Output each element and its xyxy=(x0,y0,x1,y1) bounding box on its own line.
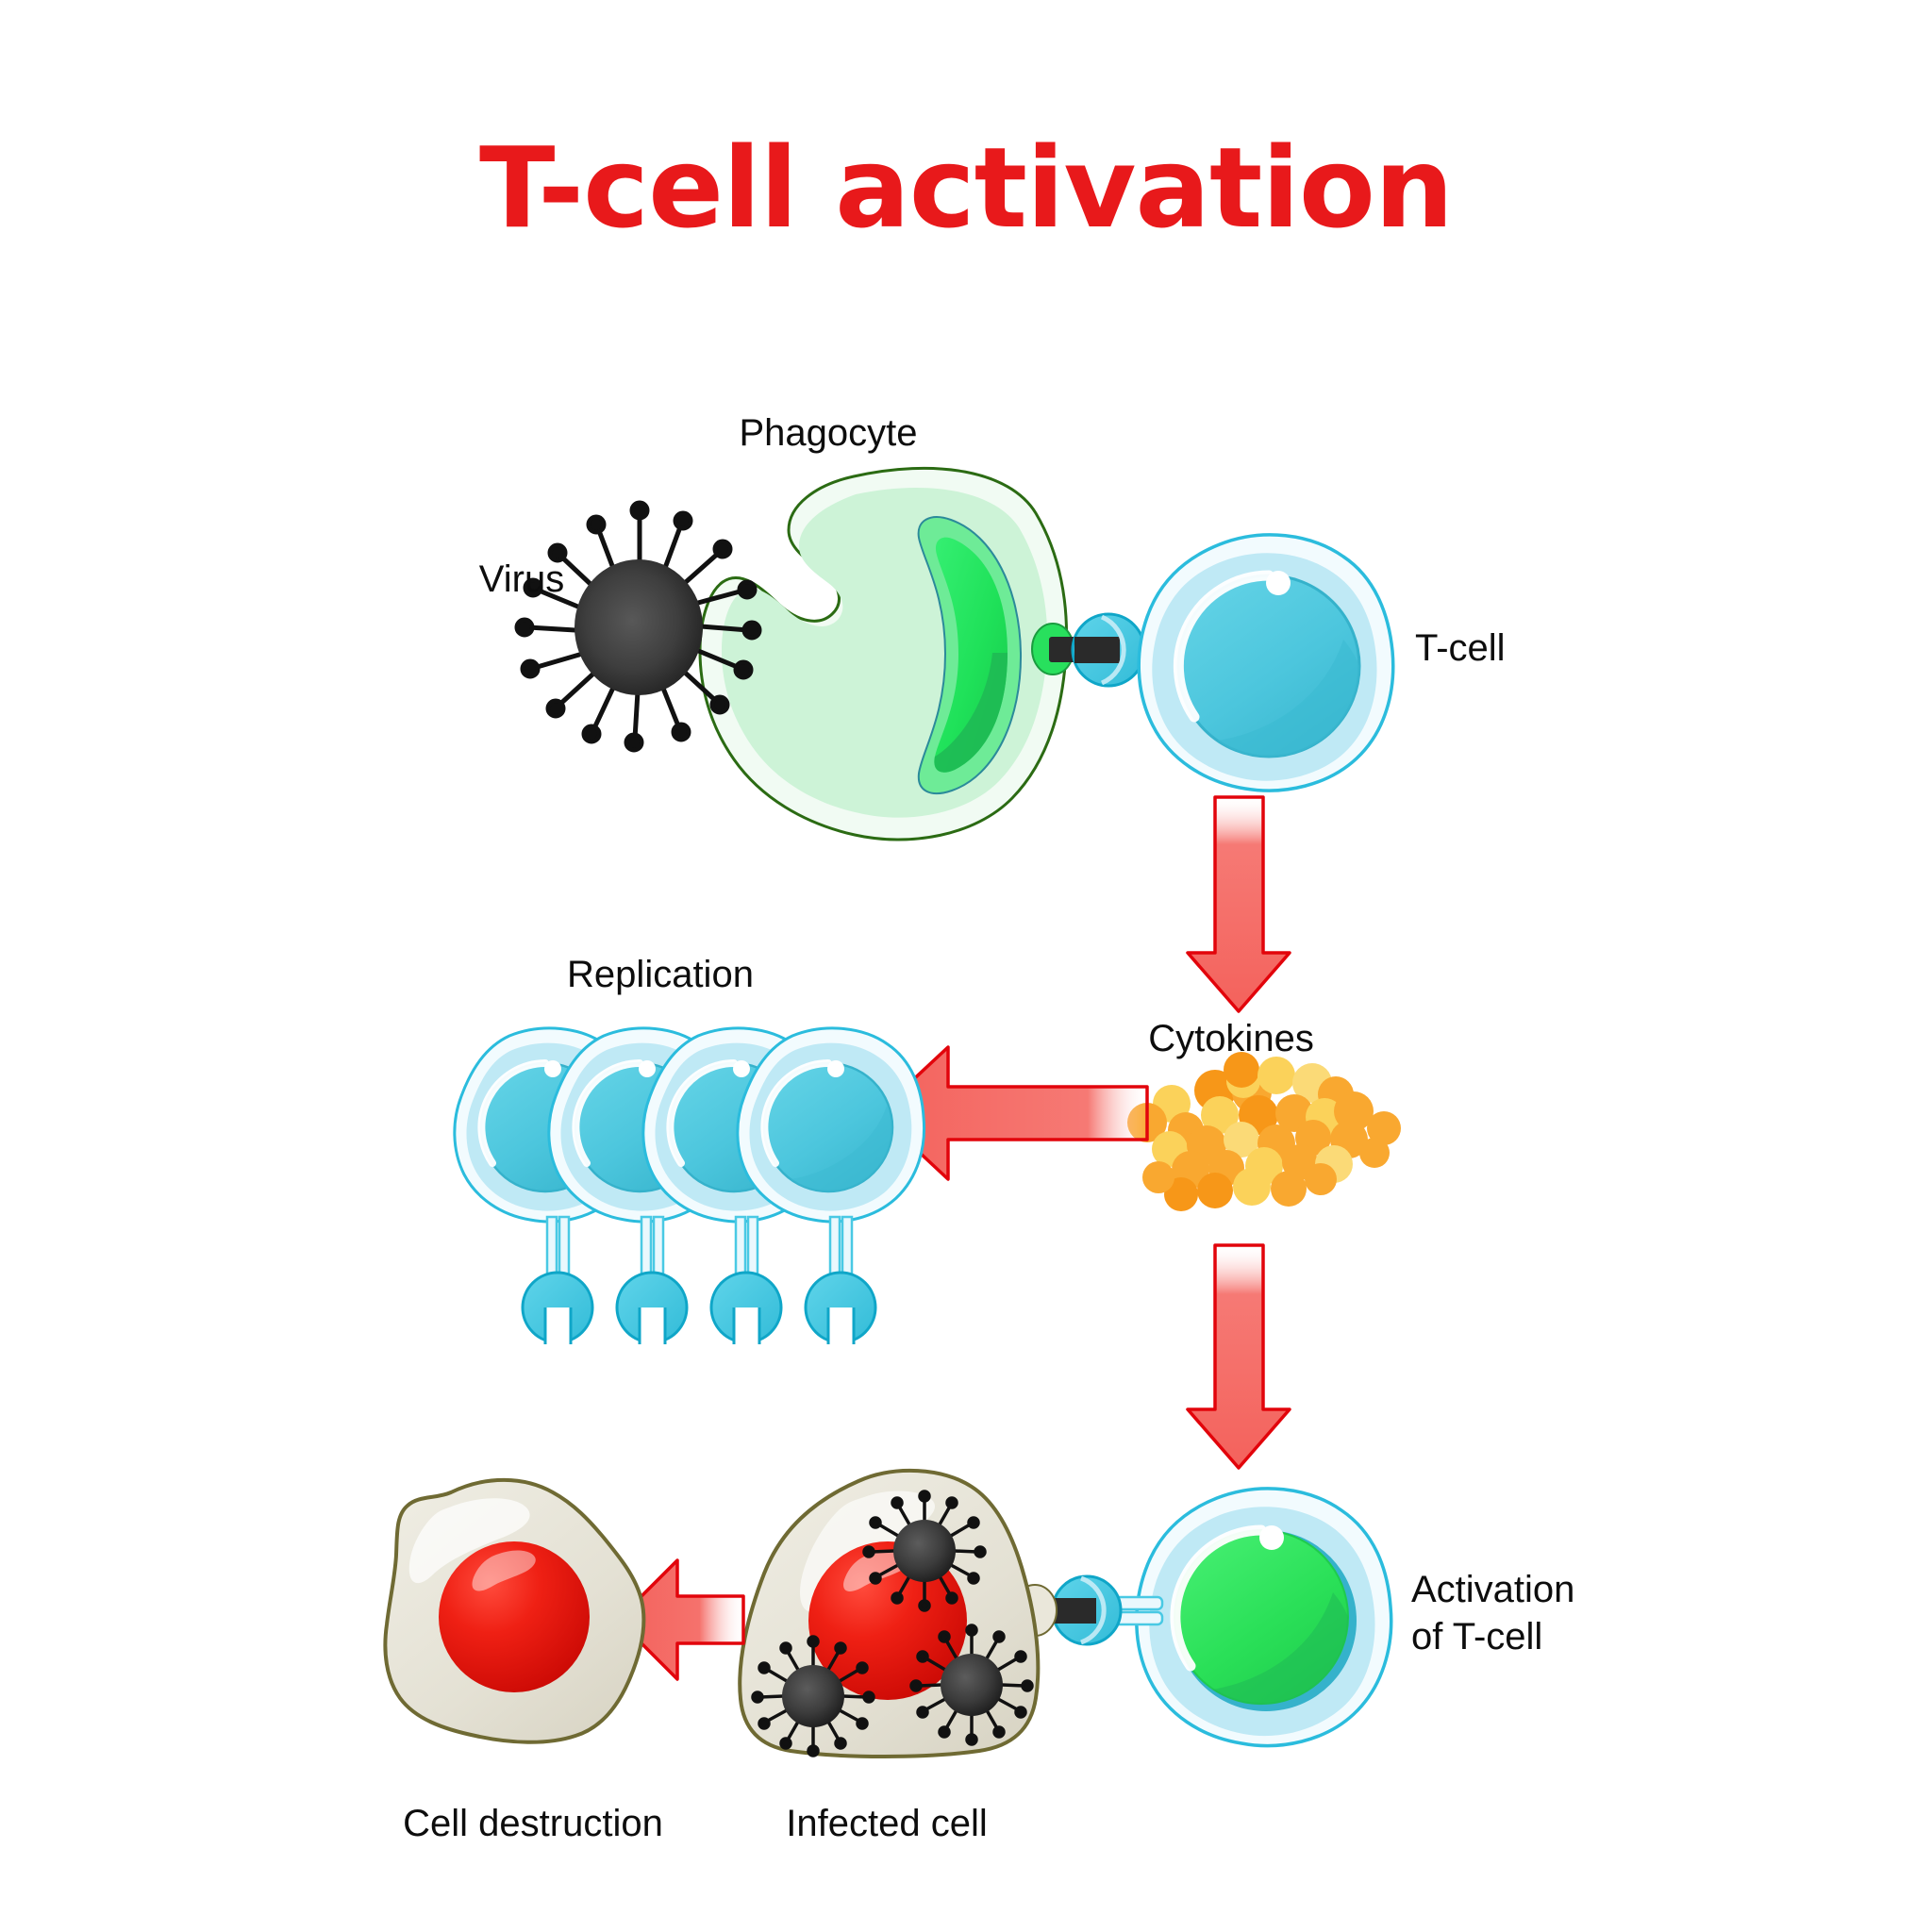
label-infected-cell: Infected cell xyxy=(786,1803,987,1844)
diagram-canvas: T-cell activation xyxy=(0,0,1932,1932)
label-replication: Replication xyxy=(567,954,754,995)
cytokines-cluster xyxy=(1127,1052,1401,1211)
destroyed-cell xyxy=(385,1480,643,1742)
label-activation-line2: of T-cell xyxy=(1411,1616,1542,1657)
activated-tcell xyxy=(1137,1489,1391,1746)
t-cell-activation-diagram: T-cell activation xyxy=(0,0,1932,1932)
virus-particle xyxy=(517,503,759,750)
tcr-binding-notch xyxy=(1074,637,1120,663)
label-activation-line1: Activation xyxy=(1411,1569,1574,1610)
arrow-down-1-shape xyxy=(1188,797,1290,1011)
virus-capsid xyxy=(575,559,703,695)
arrow-down-2-shape xyxy=(1188,1245,1290,1468)
infected-cell xyxy=(740,1471,1038,1757)
page-title: T-cell activation xyxy=(479,123,1453,253)
label-cell-destruction: Cell destruction xyxy=(403,1803,663,1844)
label-tcell: T-cell xyxy=(1415,627,1506,669)
label-phagocyte: Phagocyte xyxy=(739,412,917,454)
tcr-binding-notch-bottom xyxy=(1053,1598,1096,1624)
activated-nucleus-highlight-dot xyxy=(1259,1525,1284,1550)
label-cytokines: Cytokines xyxy=(1148,1018,1314,1059)
tcell-nucleus-highlight-dot xyxy=(1266,571,1291,595)
arrow-tcell-to-cytokines xyxy=(1188,797,1290,1011)
phagocyte-group xyxy=(700,468,1067,840)
arrow-cytokines-to-activation xyxy=(1188,1245,1290,1468)
tcell-top xyxy=(1139,535,1393,791)
replication-cells xyxy=(455,1028,924,1351)
label-virus: Virus xyxy=(479,558,564,600)
